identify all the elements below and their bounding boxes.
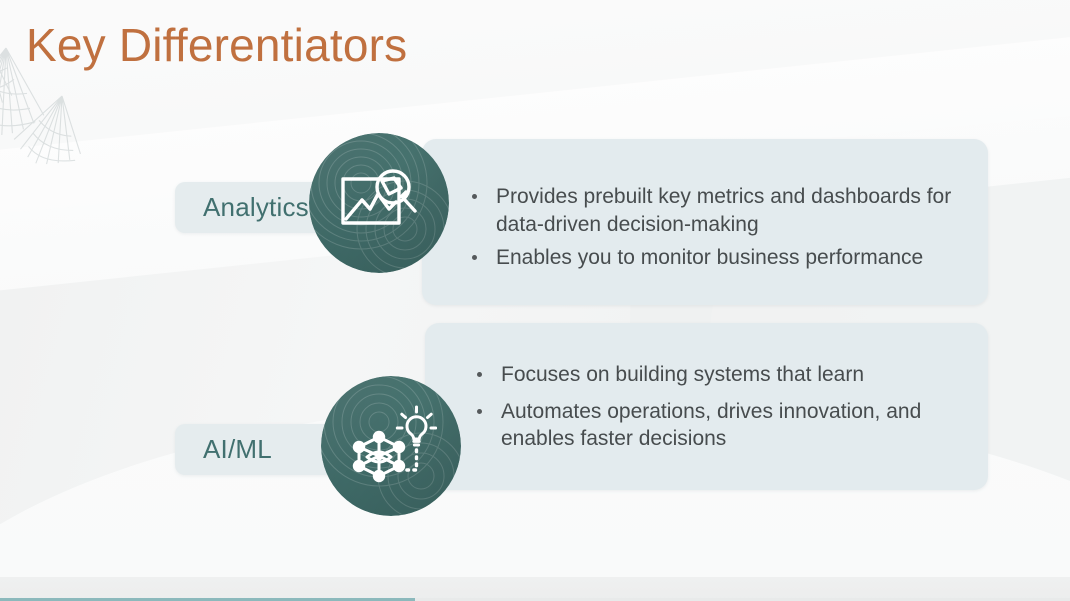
- icon-circle-fill: [321, 376, 461, 516]
- icon-circle-aiml: [321, 376, 461, 516]
- bullet-list-aiml: Focuses on building systems that learn A…: [473, 361, 970, 462]
- pill-label-analytics: Analytics: [175, 192, 309, 223]
- icon-circle-fill: [309, 133, 449, 273]
- bullet-list-analytics: Provides prebuilt key metrics and dashbo…: [468, 183, 970, 278]
- concentric-rings-texture: [309, 133, 449, 273]
- list-item: Enables you to monitor business performa…: [468, 244, 970, 272]
- icon-circle-analytics: [309, 133, 449, 273]
- list-item: Provides prebuilt key metrics and dashbo…: [468, 183, 970, 238]
- card-analytics: Provides prebuilt key metrics and dashbo…: [422, 139, 988, 305]
- list-item: Focuses on building systems that learn: [473, 361, 970, 389]
- icon-circle-sheen: [309, 133, 449, 273]
- list-item: Automates operations, drives innovation,…: [473, 398, 970, 453]
- neural-network-lightbulb-icon: [347, 400, 437, 490]
- pill-label-aiml: AI/ML: [175, 434, 272, 465]
- chart-image-magnifier-icon: [337, 161, 421, 245]
- card-aiml: Focuses on building systems that learn A…: [425, 323, 988, 490]
- icon-circle-sheen: [321, 376, 461, 516]
- page-title: Key Differentiators: [26, 18, 407, 72]
- concentric-rings-texture: [321, 376, 461, 516]
- slide: Key Differentiators Provides prebuilt ke…: [0, 0, 1070, 601]
